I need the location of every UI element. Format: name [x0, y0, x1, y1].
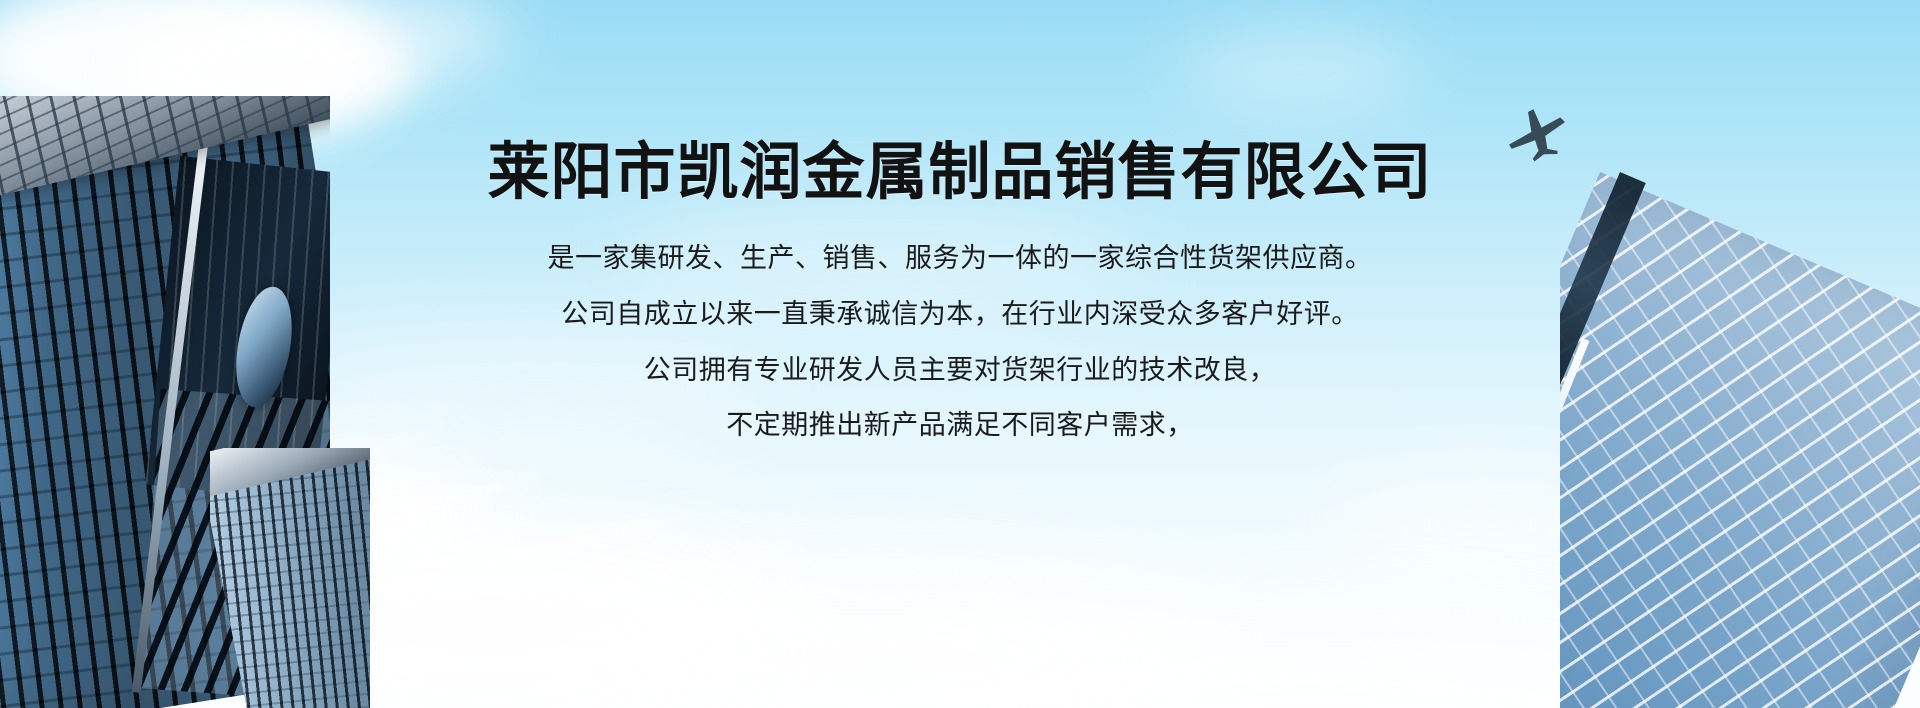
- description-line: 公司拥有专业研发人员主要对货架行业的技术改良，: [644, 354, 1277, 388]
- secondary-tower-image: [210, 448, 370, 708]
- airplane-icon: [1502, 104, 1574, 162]
- right-skyscraper-image: [1560, 120, 1920, 708]
- cloud-shape: [520, 560, 1220, 708]
- description-list: 是一家集研发、生产、销售、服务为一体的一家综合性货架供应商。 公司自成立以来一直…: [548, 242, 1373, 443]
- cloud-shape: [1180, 30, 1420, 110]
- cloud-streak: [1021, 610, 1320, 647]
- cloud-shape: [300, 330, 780, 450]
- company-hero-banner: 莱阳市凯润金属制品销售有限公司 是一家集研发、生产、销售、服务为一体的一家综合性…: [0, 0, 1920, 708]
- description-line: 不定期推出新产品满足不同客户需求，: [726, 409, 1194, 443]
- cloud-streak: [880, 658, 1299, 704]
- cloud-streak: [701, 626, 1059, 678]
- description-line: 是一家集研发、生产、销售、服务为一体的一家综合性货架供应商。: [548, 242, 1373, 276]
- cloud-streak: [1180, 652, 1520, 683]
- cloud-shape: [250, 0, 510, 80]
- description-line: 公司自成立以来一直秉承诚信为本，在行业内深受众多客户好评。: [561, 298, 1359, 332]
- cloud-shape: [620, 200, 1140, 320]
- cloud-streak: [432, 511, 687, 578]
- page-title: 莱阳市凯润金属制品销售有限公司: [487, 142, 1432, 204]
- cloud-streak: [482, 542, 798, 611]
- cloud-streak: [561, 587, 858, 641]
